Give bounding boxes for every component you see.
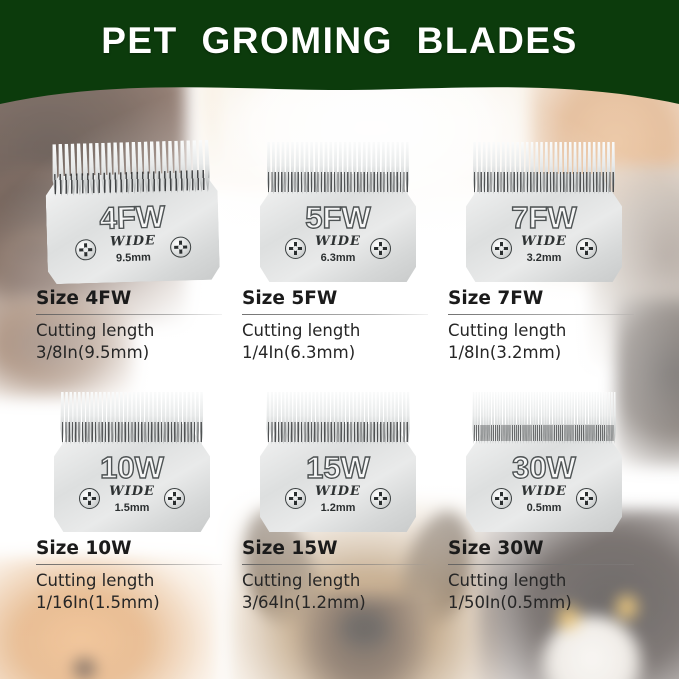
caption-30w: Size 30W Cutting length 1/50In(0.5mm) [446,538,636,613]
size-divider [36,314,222,315]
blade-wide-label: WIDE [54,484,210,499]
product-card-4fw[interactable]: 4FW WIDE 9.5mm Size 4FW Cutting length 3… [34,130,230,402]
product-grid: 4FW WIDE 9.5mm Size 4FW Cutting length 3… [0,118,679,679]
blade-wide-label: WIDE [260,484,416,499]
cutting-length-label: Cutting length [36,570,224,592]
blade-image-7fw: 7FW WIDE 3.2mm [446,130,642,282]
size-divider [448,314,634,315]
blade-mm-label: 0.5mm [466,502,622,514]
blade-undercomb [268,172,408,192]
blade-image-4fw: 4FW WIDE 9.5mm [32,127,232,284]
cutting-length-value: 3/8In(9.5mm) [36,342,224,364]
cutting-length-label: Cutting length [242,570,430,592]
cutting-length-label: Cutting length [448,570,636,592]
size-title: Size 7FW [448,288,636,310]
blade-graphic: 5FW WIDE 6.3mm [260,142,416,282]
blade-wide-label: WIDE [466,484,622,499]
blade-mm-label: 3.2mm [466,252,622,264]
blade-image-10w: 10W WIDE 1.5mm [34,380,230,532]
cutting-length-value: 1/50In(0.5mm) [448,592,636,614]
cutting-length-label: Cutting length [36,320,224,342]
product-card-15w[interactable]: 15W WIDE 1.2mm Size 15W Cutting length 3… [240,380,436,652]
header-banner: PET GROMING BLADES [0,0,679,118]
cutting-length-value: 1/8In(3.2mm) [448,342,636,364]
size-title: Size 5FW [242,288,430,310]
blade-undercomb [474,172,614,192]
blade-model-label: 15W [260,450,416,486]
cutting-length-value: 1/4In(6.3mm) [242,342,430,364]
product-card-30w[interactable]: 30W WIDE 0.5mm Size 30W Cutting length 1… [446,380,642,652]
blade-image-30w: 30W WIDE 0.5mm [446,380,642,532]
product-card-10w[interactable]: 10W WIDE 1.5mm Size 10W Cutting length 1… [34,380,230,652]
cutting-length-label: Cutting length [242,320,430,342]
size-divider [448,564,634,565]
product-card-7fw[interactable]: 7FW WIDE 3.2mm Size 7FW Cutting length 1… [446,130,642,402]
blade-wide-label: WIDE [466,234,622,249]
product-row-2: 10W WIDE 1.5mm Size 10W Cutting length 1… [0,380,679,652]
blade-model-label: 7FW [466,200,622,236]
size-divider [242,564,428,565]
cutting-length-value: 1/16In(1.5mm) [36,592,224,614]
blade-mm-label: 6.3mm [260,252,416,264]
blade-graphic: 15W WIDE 1.2mm [260,392,416,532]
blade-graphic: 4FW WIDE 9.5mm [44,140,220,285]
blade-graphic: 7FW WIDE 3.2mm [466,142,622,282]
blade-image-5fw: 5FW WIDE 6.3mm [240,130,436,282]
product-card-5fw[interactable]: 5FW WIDE 6.3mm Size 5FW Cutting length 1… [240,130,436,402]
caption-10w: Size 10W Cutting length 1/16In(1.5mm) [34,538,224,613]
blade-graphic: 10W WIDE 1.5mm [54,392,210,532]
blade-undercomb [268,422,408,442]
product-row-1: 4FW WIDE 9.5mm Size 4FW Cutting length 3… [0,130,679,402]
page-title: PET GROMING BLADES [0,20,679,62]
size-divider [242,314,428,315]
cutting-length-label: Cutting length [448,320,636,342]
caption-7fw: Size 7FW Cutting length 1/8In(3.2mm) [446,288,636,363]
blade-undercomb [474,425,614,441]
size-title: Size 4FW [36,288,224,310]
cutting-length-value: 3/64In(1.2mm) [242,592,430,614]
size-title: Size 10W [36,538,224,560]
blade-model-label: 5FW [260,200,416,236]
blade-undercomb [62,422,202,442]
caption-5fw: Size 5FW Cutting length 1/4In(6.3mm) [240,288,430,363]
product-infographic: PET GROMING BLADES [0,0,679,679]
blade-mm-label: 1.5mm [54,502,210,514]
blade-mm-label: 1.2mm [260,502,416,514]
caption-15w: Size 15W Cutting length 3/64In(1.2mm) [240,538,430,613]
size-title: Size 30W [448,538,636,560]
blade-wide-label: WIDE [260,234,416,249]
blade-image-15w: 15W WIDE 1.2mm [240,380,436,532]
caption-4fw: Size 4FW Cutting length 3/8In(9.5mm) [34,288,224,363]
size-divider [36,564,222,565]
blade-model-label: 30W [466,450,622,486]
blade-model-label: 10W [54,450,210,486]
blade-graphic: 30W WIDE 0.5mm [466,392,622,532]
size-title: Size 15W [242,538,430,560]
